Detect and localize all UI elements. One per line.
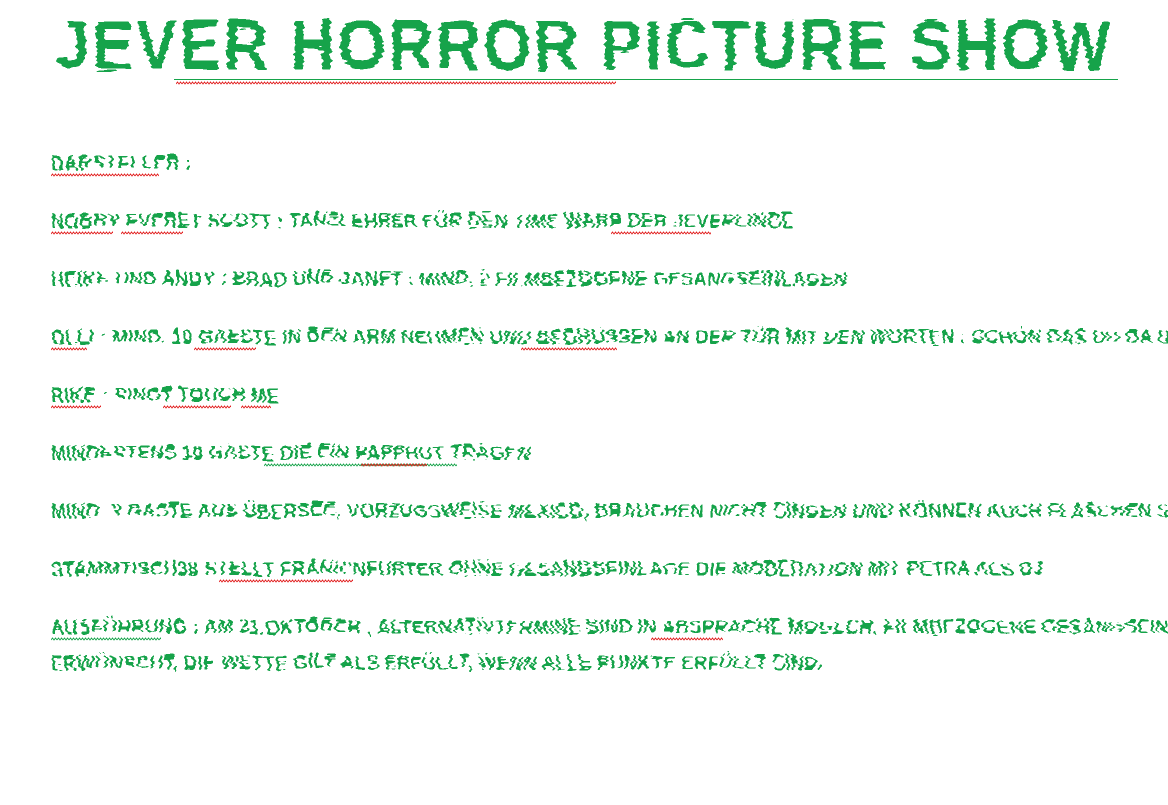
paragraph-text: RIKE : SINGT TOUCH ME <box>51 384 280 408</box>
paragraph-papphut: MINDESTENS 10 GÄSTE DIE EIN PAPPHUT TRAG… <box>51 442 1141 464</box>
paragraph-darsteller: DARSTELLER : <box>51 152 1141 174</box>
paragraph-text: MINDESTENS 10 GÄSTE DIE EIN PAPPHUT TRAG… <box>51 442 531 466</box>
paragraph-heike-andy: HEIKE UND ANDY : BRAD UND JANET : MIND. … <box>51 268 1141 290</box>
paragraph-text: DARSTELLER : <box>51 152 192 176</box>
title-underline <box>174 79 1118 80</box>
paragraph-ausfuehrung-line-2: ERWÜNSCHT, DIE WETTE GILT ALS ERFÜLLT, W… <box>51 652 1141 674</box>
paragraph-ausfuehrung-line-1: AUSFÜHRUNG : AM 31.OKTOBER , ALTERNATIVT… <box>51 616 1141 638</box>
paragraph-nobby: NOBBY EVERET SCOTT : TANZLEHRER FÜR DEN … <box>51 210 1141 232</box>
title-block: JEVER HORROR PICTURE SHOW <box>0 6 1168 76</box>
paragraph-text: NOBBY EVERET SCOTT : TANZLEHRER FÜR DEN … <box>51 210 794 234</box>
paragraph-uebersee: MIND. 3 GÄSTE AUS ÜBERSEE, VORZUGSWEISE … <box>51 500 1141 522</box>
paragraph-text: AUSFÜHRUNG : AM 31.OKTOBER , ALTERNATIVT… <box>51 616 1168 640</box>
paragraph-text: OLLI : MIND. 10 GAESTE IN DEN ARM NEHMEN… <box>51 326 1168 350</box>
paragraph-text: STAMMTISCH38 STELLT FRANK'NFURTER OHNE G… <box>51 558 1043 582</box>
paragraph-text: HEIKE UND ANDY : BRAD UND JANET : MIND. … <box>51 268 848 292</box>
paragraph-text: ERWÜNSCHT, DIE WETTE GILT ALS ERFÜLLT, W… <box>51 652 824 676</box>
document-body: DARSTELLER : NOBBY EVERET SCOTT : TANZLE… <box>51 152 1141 710</box>
paragraph-text: MIND. 3 GÄSTE AUS ÜBERSEE, VORZUGSWEISE … <box>51 500 1168 524</box>
paragraph-stammtisch: STAMMTISCH38 STELLT FRANK'NFURTER OHNE G… <box>51 558 1141 580</box>
document-page: JEVER HORROR PICTURE SHOW DARSTELLER : N… <box>0 0 1168 805</box>
page-title: JEVER HORROR PICTURE SHOW <box>55 6 1113 87</box>
paragraph-olli: OLLI : MIND. 10 GAESTE IN DEN ARM NEHMEN… <box>51 326 1141 348</box>
paragraph-rike: RIKE : SINGT TOUCH ME <box>51 384 1141 406</box>
